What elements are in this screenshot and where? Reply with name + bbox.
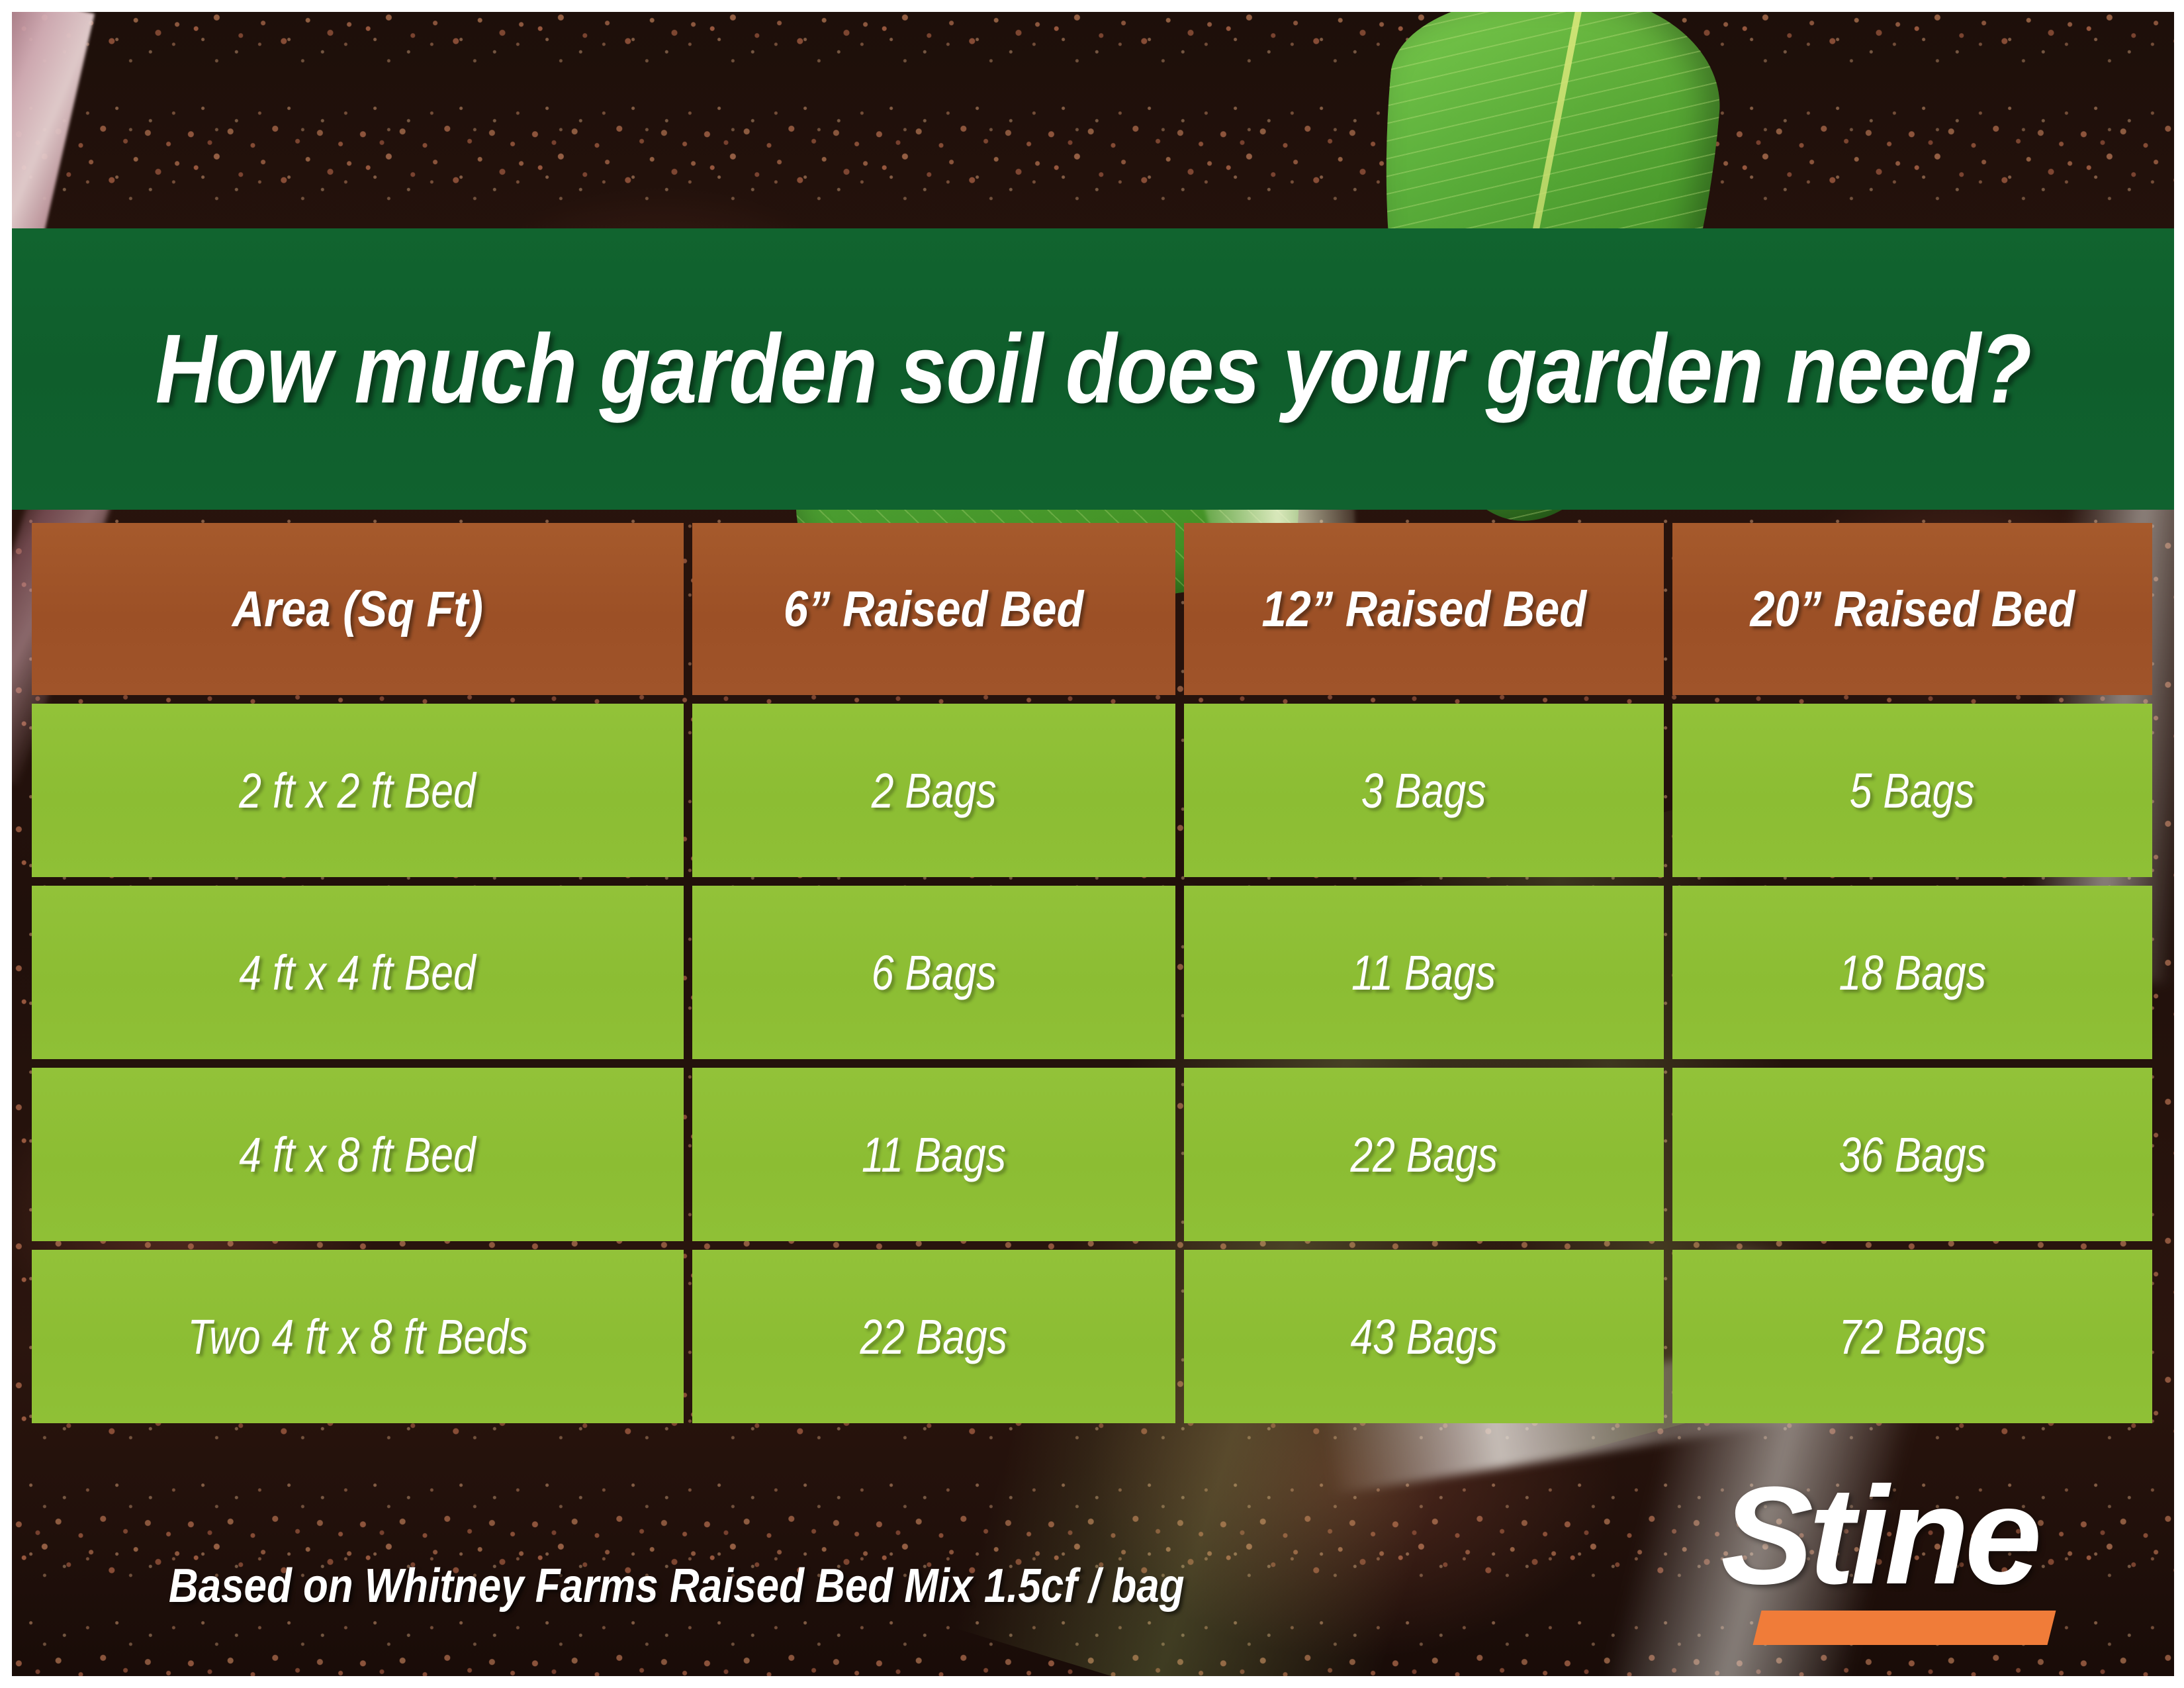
table-row: 43 Bags bbox=[1184, 1250, 1664, 1423]
cell-area: 4 ft x 4 ft Bed bbox=[240, 945, 477, 1001]
table-row: 11 Bags bbox=[692, 1068, 1175, 1241]
cell-bed-6: 2 Bags bbox=[872, 763, 997, 819]
infographic-page: How much garden soil does your garden ne… bbox=[0, 0, 2184, 1688]
column-header-bed-12-label: 12” Raised Bed bbox=[1261, 581, 1586, 638]
stine-orange-bar bbox=[1753, 1611, 2056, 1645]
column-header-bed-6: 6” Raised Bed bbox=[692, 523, 1175, 695]
table-row: 22 Bags bbox=[1184, 1068, 1664, 1241]
column-header-bed-6-label: 6” Raised Bed bbox=[784, 581, 1083, 638]
cell-bed-20: 5 Bags bbox=[1850, 763, 1975, 819]
table-row: 22 Bags bbox=[692, 1250, 1175, 1423]
cell-bed-12: 43 Bags bbox=[1350, 1309, 1498, 1365]
table-row: Two 4 ft x 8 ft Beds bbox=[32, 1250, 684, 1423]
cell-area: 4 ft x 8 ft Bed bbox=[240, 1127, 477, 1183]
table-row: 36 Bags bbox=[1672, 1068, 2152, 1241]
footnote: Based on Whitney Farms Raised Bed Mix 1.… bbox=[86, 1559, 1267, 1613]
cell-bed-20: 72 Bags bbox=[1839, 1309, 1986, 1365]
table-row: 2 Bags bbox=[692, 704, 1175, 877]
table-row: 2 ft x 2 ft Bed bbox=[32, 704, 684, 877]
cell-bed-6: 6 Bags bbox=[872, 945, 997, 1001]
cell-bed-12: 22 Bags bbox=[1350, 1127, 1498, 1183]
table-row: 18 Bags bbox=[1672, 886, 2152, 1059]
footnote-label: Based on Whitney Farms Raised Bed Mix 1.… bbox=[169, 1559, 1185, 1613]
column-header-area-label: Area (Sq Ft) bbox=[232, 581, 483, 638]
table-row: 5 Bags bbox=[1672, 704, 2152, 877]
cell-bed-20: 18 Bags bbox=[1839, 945, 1986, 1001]
column-header-bed-20-label: 20” Raised Bed bbox=[1750, 581, 2075, 638]
table-row: 4 ft x 4 ft Bed bbox=[32, 886, 684, 1059]
table-row: 6 Bags bbox=[692, 886, 1175, 1059]
column-header-bed-20: 20” Raised Bed bbox=[1672, 523, 2152, 695]
cell-bed-20: 36 Bags bbox=[1839, 1127, 1986, 1183]
cell-area: Two 4 ft x 8 ft Beds bbox=[187, 1309, 528, 1365]
column-header-area: Area (Sq Ft) bbox=[32, 523, 684, 695]
title-band: How much garden soil does your garden ne… bbox=[12, 228, 2174, 510]
cell-bed-6: 22 Bags bbox=[860, 1309, 1008, 1365]
page-title: How much garden soil does your garden ne… bbox=[155, 313, 2030, 426]
table-row: 3 Bags bbox=[1184, 704, 1664, 877]
table-row: 11 Bags bbox=[1184, 886, 1664, 1059]
table-row: 4 ft x 8 ft Bed bbox=[32, 1068, 684, 1241]
table-row: 72 Bags bbox=[1672, 1250, 2152, 1423]
cell-area: 2 ft x 2 ft Bed bbox=[240, 763, 477, 819]
cell-bed-6: 11 Bags bbox=[862, 1127, 1006, 1183]
soil-requirement-table: Area (Sq Ft) 6” Raised Bed 12” Raised Be… bbox=[32, 523, 2153, 1423]
stine-logo: Stine bbox=[1721, 1466, 2091, 1665]
stine-wordmark: Stine bbox=[1721, 1466, 2037, 1605]
cell-bed-12: 11 Bags bbox=[1351, 945, 1496, 1001]
cell-bed-12: 3 Bags bbox=[1361, 763, 1486, 819]
column-header-bed-12: 12” Raised Bed bbox=[1184, 523, 1664, 695]
